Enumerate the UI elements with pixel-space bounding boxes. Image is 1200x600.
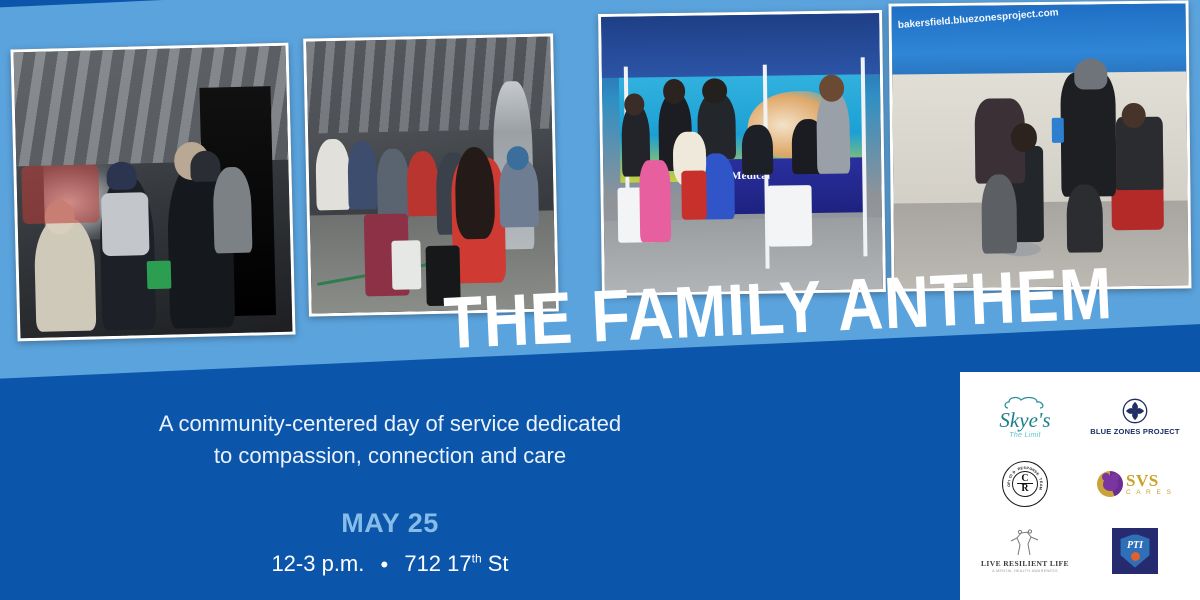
sponsor-logo-pti[interactable]: PTI xyxy=(1080,517,1190,584)
sponsor-panel: Skye's The Limit BLUE ZONES PROJECT OPIO… xyxy=(960,372,1200,600)
address-ordinal: th xyxy=(472,551,482,565)
photo-community-gathering xyxy=(303,33,559,316)
separator-dot: • xyxy=(381,552,389,578)
figures-line-art-icon xyxy=(1008,529,1042,557)
sponsor-logo-grid: Skye's The Limit BLUE ZONES PROJECT OPIO… xyxy=(960,372,1200,600)
basketball-icon xyxy=(1131,552,1140,561)
address-number: 712 17 xyxy=(404,551,471,576)
sponsor-logo-opioid-response-team[interactable]: OPIOID RESPONSE TEAM C R xyxy=(970,451,1080,518)
cr-seal-icon: OPIOID RESPONSE TEAM C R xyxy=(1002,461,1048,507)
skyes-wordmark: Skye's xyxy=(999,410,1050,431)
photo-free-haircuts: bakersfield.bluezonesproject.com xyxy=(889,0,1192,291)
sponsor-logo-live-resilient-life[interactable]: LIVE RESILIENT LIFE A MENTAL HEALTH AWAR… xyxy=(970,517,1080,584)
event-date: MAY 25 xyxy=(60,508,720,539)
sponsor-logo-svs-cares[interactable]: SVS C A R E S xyxy=(1080,451,1190,518)
svs-tagline: C A R E S xyxy=(1126,490,1173,497)
event-time: 12-3 p.m. xyxy=(271,551,364,576)
sponsor-logo-blue-zones-project[interactable]: BLUE ZONES PROJECT xyxy=(1080,384,1190,451)
address-street: St xyxy=(482,551,509,576)
tagline-line-1: A community-centered day of service dedi… xyxy=(60,408,720,440)
photo-meal-service-line xyxy=(10,43,295,342)
svs-wordmark: SVS xyxy=(1126,472,1173,489)
skyes-tagline: The Limit xyxy=(1009,432,1041,439)
flyer-canvas: ernMedical bakersfield.blue xyxy=(0,0,1200,600)
live-resilient-life-tagline: A MENTAL HEALTH AWARENESS xyxy=(992,569,1058,573)
cr-ring-label: OPIOID RESPONSE TEAM xyxy=(1003,462,1047,506)
photo-mobile-medical-tent: ernMedical xyxy=(598,10,886,296)
tagline-line-2: to compassion, connection and care xyxy=(60,440,720,472)
event-time-and-address: 12-3 p.m. • 712 17th St xyxy=(60,551,720,578)
pti-badge-icon: PTI xyxy=(1112,528,1158,574)
blue-zones-emblem-icon xyxy=(1122,398,1148,424)
event-copy: A community-centered day of service dedi… xyxy=(60,408,720,578)
svs-heart-icon xyxy=(1097,471,1123,497)
sponsor-logo-skyes-the-limit[interactable]: Skye's The Limit xyxy=(970,384,1080,451)
live-resilient-life-wordmark: LIVE RESILIENT LIFE xyxy=(981,559,1069,568)
pti-wordmark: PTI xyxy=(1127,540,1143,551)
blue-zones-wordmark: BLUE ZONES PROJECT xyxy=(1090,427,1179,436)
shield-icon: PTI xyxy=(1120,534,1150,568)
